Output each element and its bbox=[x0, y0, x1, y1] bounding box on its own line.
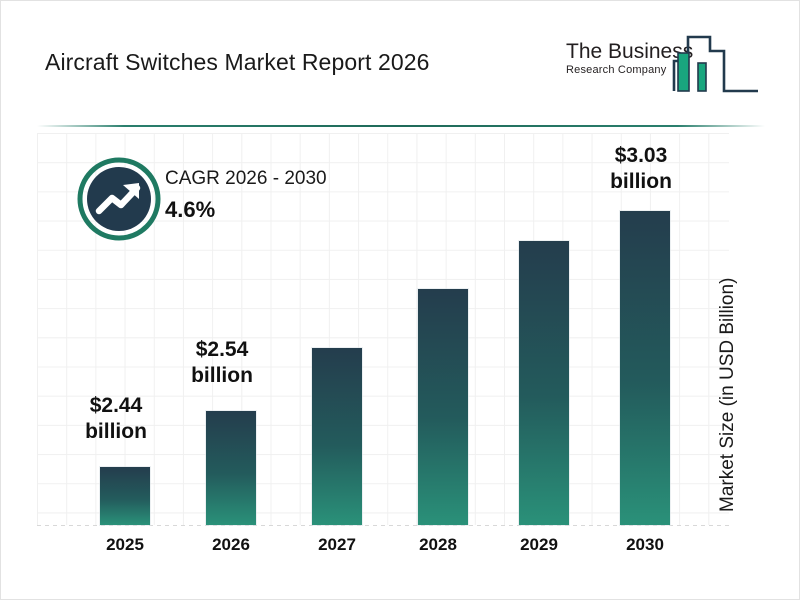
value-label-2030: $3.03billion bbox=[593, 143, 689, 195]
bar-2026 bbox=[206, 411, 256, 525]
bar-2027 bbox=[312, 348, 362, 525]
cagr-text-block: CAGR 2026 - 2030 4.6% bbox=[165, 167, 395, 225]
x-tick-2026: 2026 bbox=[186, 535, 276, 555]
value-label-unit: billion bbox=[174, 363, 270, 389]
bar-2029 bbox=[519, 241, 569, 525]
y-axis-title: Market Size (in USD Billion) bbox=[695, 0, 717, 216]
cagr-badge: CAGR 2026 - 2030 4.6% bbox=[77, 157, 387, 241]
x-axis-baseline bbox=[37, 525, 729, 526]
x-tick-2028: 2028 bbox=[393, 535, 483, 555]
value-label-amount: $2.54 bbox=[174, 337, 270, 363]
value-label-unit: billion bbox=[68, 419, 164, 445]
bar-2028 bbox=[418, 289, 468, 525]
trending-up-icon bbox=[77, 157, 161, 241]
chart-page: Aircraft Switches Market Report 2026 The… bbox=[0, 0, 800, 600]
company-logo: The Business Research Company bbox=[566, 27, 766, 99]
page-title: Aircraft Switches Market Report 2026 bbox=[45, 49, 430, 76]
bar-2025 bbox=[100, 467, 150, 525]
header-divider bbox=[37, 125, 765, 127]
value-label-amount: $3.03 bbox=[593, 143, 689, 169]
cagr-value-label: 4.6% bbox=[165, 195, 395, 225]
value-label-2026: $2.54billion bbox=[174, 337, 270, 389]
x-tick-2025: 2025 bbox=[80, 535, 170, 555]
x-tick-2030: 2030 bbox=[600, 535, 690, 555]
cagr-period-label: CAGR 2026 - 2030 bbox=[165, 167, 395, 191]
bar-2030 bbox=[620, 211, 670, 525]
y-axis-title-text: Market Size (in USD Billion) bbox=[717, 212, 739, 512]
x-tick-2027: 2027 bbox=[292, 535, 382, 555]
header: Aircraft Switches Market Report 2026 The… bbox=[1, 1, 800, 121]
x-tick-2029: 2029 bbox=[494, 535, 584, 555]
value-label-amount: $2.44 bbox=[68, 393, 164, 419]
value-label-unit: billion bbox=[593, 169, 689, 195]
value-label-2025: $2.44billion bbox=[68, 393, 164, 445]
